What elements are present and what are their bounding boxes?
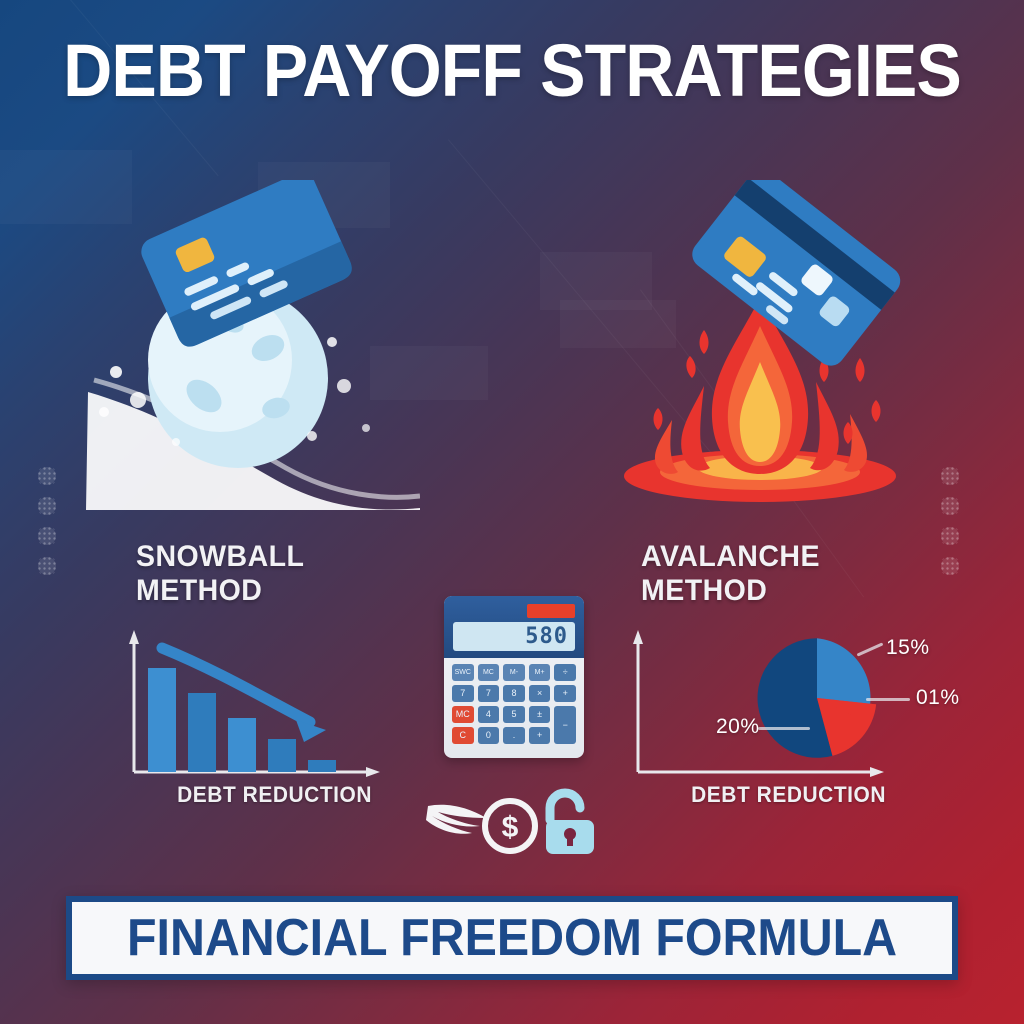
snowball-method-label: SNOWBALL METHOD — [136, 540, 304, 607]
calculator-key[interactable]: − — [554, 706, 576, 744]
bar-4 — [268, 739, 296, 772]
calculator-key[interactable]: × — [529, 685, 551, 702]
ember-5 — [856, 358, 865, 382]
calculator-key[interactable]: ÷ — [554, 664, 576, 681]
pie-label-01: 01% — [916, 686, 960, 710]
avalanche-label-line1: AVALANCHE — [641, 540, 820, 574]
dot-cluster-left-2 — [34, 493, 60, 519]
dot-cluster-left-1 — [34, 463, 60, 489]
y-axis-arrowhead — [129, 630, 139, 644]
bottom-banner: FINANCIAL FREEDOM FORMULA — [66, 896, 958, 980]
ember-3 — [654, 408, 663, 430]
pie-label-20: 20% — [716, 715, 760, 739]
avalanche-axis-label: DEBT REDUCTION — [691, 782, 886, 808]
calculator-screen: 580 — [453, 622, 575, 651]
calculator-key[interactable]: + — [529, 727, 551, 744]
snow-fleck-3 — [99, 407, 109, 417]
calculator-key[interactable]: . — [503, 727, 525, 744]
snowball-label-line1: SNOWBALL — [136, 540, 304, 574]
avalanche-label-line2: METHOD — [641, 574, 820, 608]
calculator-key[interactable]: 0 — [478, 727, 500, 744]
avalanche-method-label: AVALANCHE METHOD — [641, 540, 820, 607]
calculator-key[interactable]: 8 — [503, 685, 525, 702]
dot-cluster-left-3 — [34, 523, 60, 549]
credit-card-avalanche — [687, 180, 906, 371]
snow-fleck-7 — [362, 424, 370, 432]
calculator-key[interactable]: 7 — [478, 685, 500, 702]
svg-text:$: $ — [502, 811, 519, 844]
trend-arrow-line — [162, 648, 310, 722]
calculator-key[interactable]: + — [554, 685, 576, 702]
pie-leader-20 — [758, 727, 810, 730]
bar-1 — [148, 668, 176, 772]
dollar-coin-icon: $ — [485, 801, 535, 851]
snow-fleck-6 — [307, 431, 317, 441]
calculator-key[interactable]: MC — [452, 706, 474, 723]
pie-label-15: 15% — [886, 636, 930, 660]
dot-cluster-right-2 — [937, 493, 963, 519]
calculator-display-value: 580 — [525, 624, 568, 649]
snow-fleck-2 — [130, 392, 146, 408]
footer-icon-group: $ — [424, 786, 604, 864]
open-padlock-icon — [546, 793, 594, 854]
page-title: DEBT PAYOFF STRATEGIES — [41, 34, 983, 108]
x-axis-arrowhead — [366, 767, 380, 777]
snow-fleck-8 — [172, 438, 180, 446]
calculator-solar-panel — [527, 604, 575, 618]
snowball-bar-chart — [124, 628, 384, 788]
snow-fleck-5 — [337, 379, 351, 393]
bar-5 — [308, 760, 336, 772]
dot-cluster-right-4 — [937, 553, 963, 579]
dot-cluster-right-1 — [937, 463, 963, 489]
calculator-key[interactable]: ± — [529, 706, 551, 723]
calculator-key[interactable]: C — [452, 727, 474, 744]
ember-2 — [700, 330, 709, 354]
snow-fleck-4 — [327, 337, 337, 347]
ember-6 — [872, 400, 881, 422]
avalanche-flames-illustration — [608, 180, 928, 510]
dot-cluster-left-4 — [34, 553, 60, 579]
snow-fleck-1 — [110, 366, 122, 378]
snowball-illustration — [80, 180, 420, 510]
x-axis-arrowhead — [870, 767, 884, 777]
y-axis-arrowhead — [633, 630, 643, 644]
calculator-key[interactable]: SWC — [452, 664, 474, 681]
ember-1 — [686, 356, 695, 378]
snowball-axis-label: DEBT REDUCTION — [177, 782, 372, 808]
bar-3 — [228, 718, 256, 772]
dot-cluster-right-3 — [937, 523, 963, 549]
calculator-key[interactable]: 7 — [452, 685, 474, 702]
calculator-keypad[interactable]: SWC MC M- M+ ÷ 7 7 8 × + MC 4 5 ± − C 0 … — [452, 664, 576, 744]
calculator-key[interactable]: MC — [478, 664, 500, 681]
calculator-illustration: 580 SWC MC M- M+ ÷ 7 7 8 × + MC 4 5 ± − … — [444, 596, 584, 758]
snowball-label-line2: METHOD — [136, 574, 304, 608]
infographic-poster: DEBT PAYOFF STRATEGIES — [0, 0, 1024, 1024]
banner-text: FINANCIAL FREEDOM FORMULA — [127, 908, 897, 968]
bar-2 — [188, 693, 216, 772]
calculator-key[interactable]: M- — [503, 664, 525, 681]
calculator-key[interactable]: 4 — [478, 706, 500, 723]
wing-icon — [426, 805, 486, 834]
background-decoration — [0, 0, 1024, 1024]
calculator-key[interactable]: M+ — [529, 664, 551, 681]
calculator-key[interactable]: 5 — [503, 706, 525, 723]
pie-leader-01 — [866, 698, 910, 701]
